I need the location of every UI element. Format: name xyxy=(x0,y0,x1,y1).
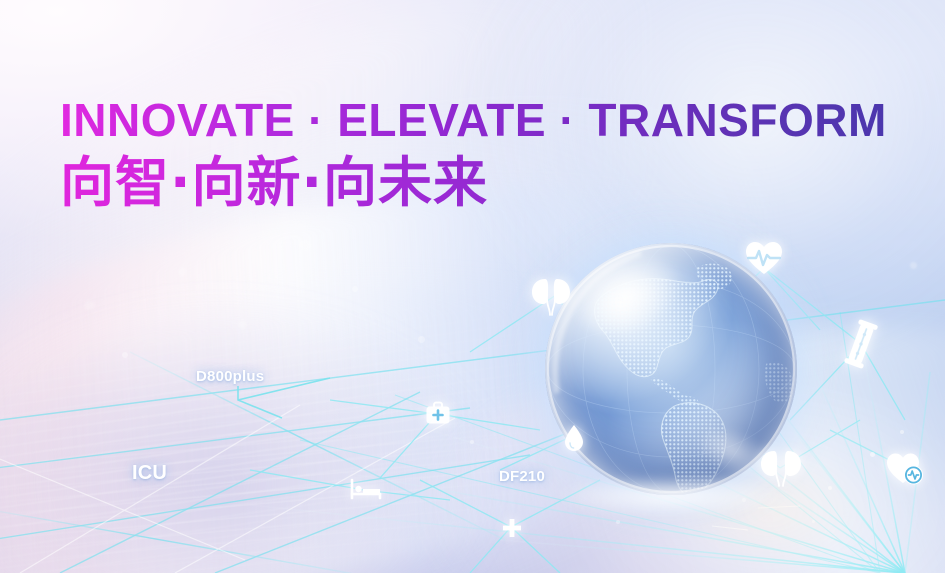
medical-kit-icon xyxy=(425,401,451,425)
heart-monitor-icon xyxy=(884,450,926,488)
heart-pulse-icon xyxy=(744,240,784,276)
hospital-bed-icon xyxy=(350,478,382,500)
medical-cross-icon xyxy=(502,518,522,538)
headline-block: INNOVATE · ELEVATE · TRANSFORM 向智·向新·向未来 xyxy=(60,97,887,212)
page-title: INNOVATE · ELEVATE · TRANSFORM xyxy=(60,97,887,144)
page-subtitle: 向智·向新·向未来 xyxy=(60,154,887,212)
water-drop-icon xyxy=(563,424,585,452)
hero-banner: D800plus ICU DF210 INNOVATE · ELEVATE · … xyxy=(0,0,945,573)
kidneys-icon xyxy=(528,275,574,319)
kidneys-icon xyxy=(758,448,804,490)
